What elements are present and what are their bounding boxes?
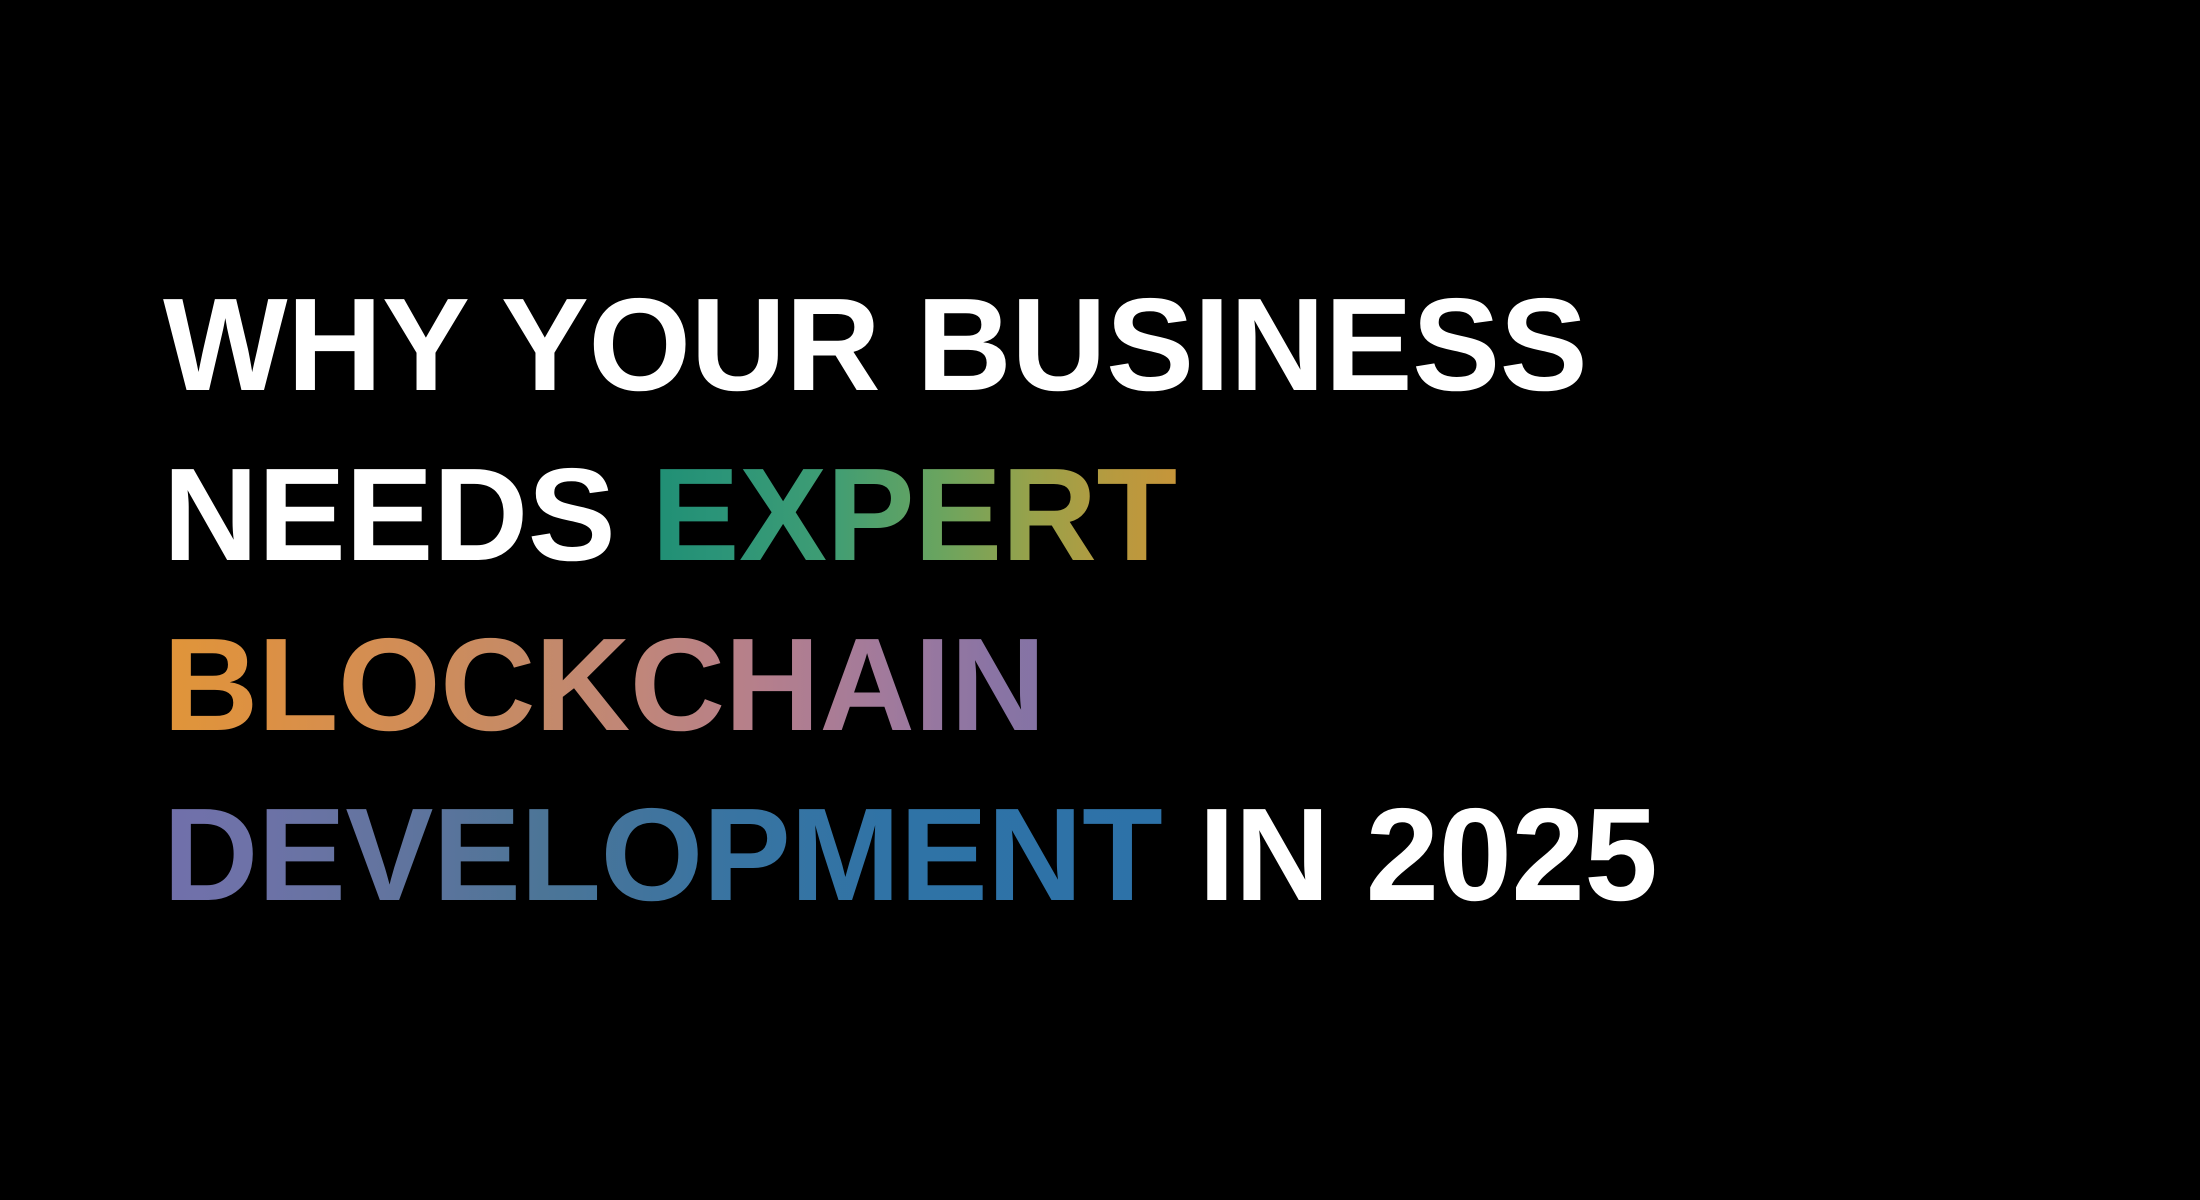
headline-line-4: DEVELOPMENT IN 2025 bbox=[163, 770, 1657, 940]
poster-canvas: WHY YOUR BUSINESS NEEDS EXPERT BLOCKCHAI… bbox=[0, 0, 2200, 1200]
headline-segment-needs: NEEDS bbox=[163, 441, 651, 588]
page-title: WHY YOUR BUSINESS NEEDS EXPERT BLOCKCHAI… bbox=[163, 260, 1657, 940]
headline-segment-expert: EXPERT bbox=[651, 441, 1176, 588]
headline-line-1: WHY YOUR BUSINESS bbox=[163, 260, 1657, 430]
headline-segment-development: DEVELOPMENT bbox=[163, 781, 1162, 928]
headline-segment-why-your-business: WHY YOUR BUSINESS bbox=[163, 271, 1587, 418]
headline-line-3: BLOCKCHAIN bbox=[163, 600, 1657, 770]
headline-segment-in-2025: IN 2025 bbox=[1162, 781, 1657, 928]
headline-line-2: NEEDS EXPERT bbox=[163, 430, 1657, 600]
headline-segment-blockchain: BLOCKCHAIN bbox=[163, 611, 1045, 758]
